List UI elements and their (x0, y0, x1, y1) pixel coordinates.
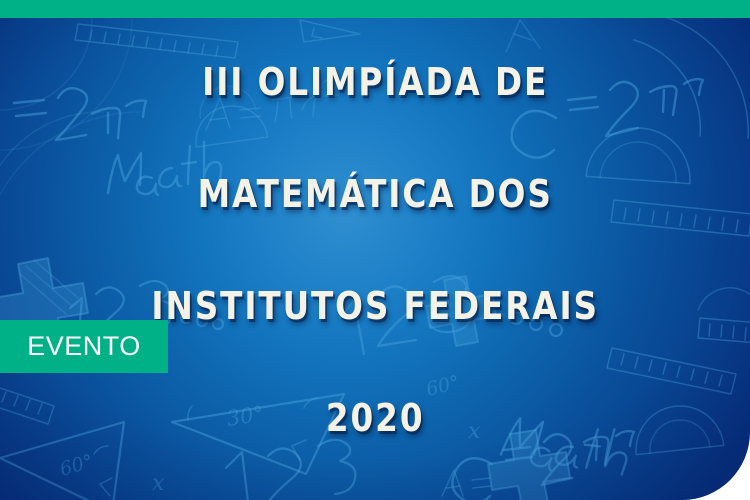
doodle-set-square-top (300, 20, 360, 42)
doodle-ruler-top-right (611, 200, 750, 236)
doodle-formula-area-circle-bottom (442, 470, 491, 496)
doodle-dots-top-left (181, 313, 223, 329)
doodle-angle-30-label: 30° (225, 401, 266, 431)
doodle-word-math-top-left (108, 142, 221, 195)
doodle-variable-x-label-center: x (468, 419, 481, 444)
status-badge[interactable]: EVENTO (0, 320, 168, 373)
doodle-plus-sign-right (426, 276, 496, 346)
doodle-protractor-top-right (586, 124, 693, 183)
doodle-arcs-top-right (634, 18, 748, 138)
doodle-ruler-bottom-right (607, 348, 736, 394)
event-banner: 30° 60° x 60° x (0, 0, 750, 500)
doodle-numbers-123-bottom (226, 440, 355, 500)
doodle-dots-right (510, 312, 562, 336)
doodle-plus-sign-bottom-right (488, 430, 570, 500)
doodle-ruler-bottom-left (0, 386, 54, 424)
doodle-protractor-bottom-right (632, 402, 724, 455)
doodle-formula-circumference-right (512, 79, 704, 158)
doodle-angle-60-label-left: 60° (57, 450, 95, 480)
top-accent-bar (0, 0, 750, 18)
badge-label: EVENTO (27, 333, 141, 360)
banner-background-card: 30° 60° x 60° x (0, 18, 750, 500)
doodle-angle-60-label-right: 60° (424, 371, 462, 400)
doodle-compass-top-right (506, 20, 540, 52)
doodle-ruler-top-left (75, 24, 238, 58)
math-doodle-pattern: 30° 60° x 60° x (0, 18, 750, 500)
doodle-ruler-right-mid (698, 288, 750, 344)
doodle-variable-x-label-left: x (152, 471, 165, 496)
doodle-protractor-top-left (191, 83, 267, 147)
